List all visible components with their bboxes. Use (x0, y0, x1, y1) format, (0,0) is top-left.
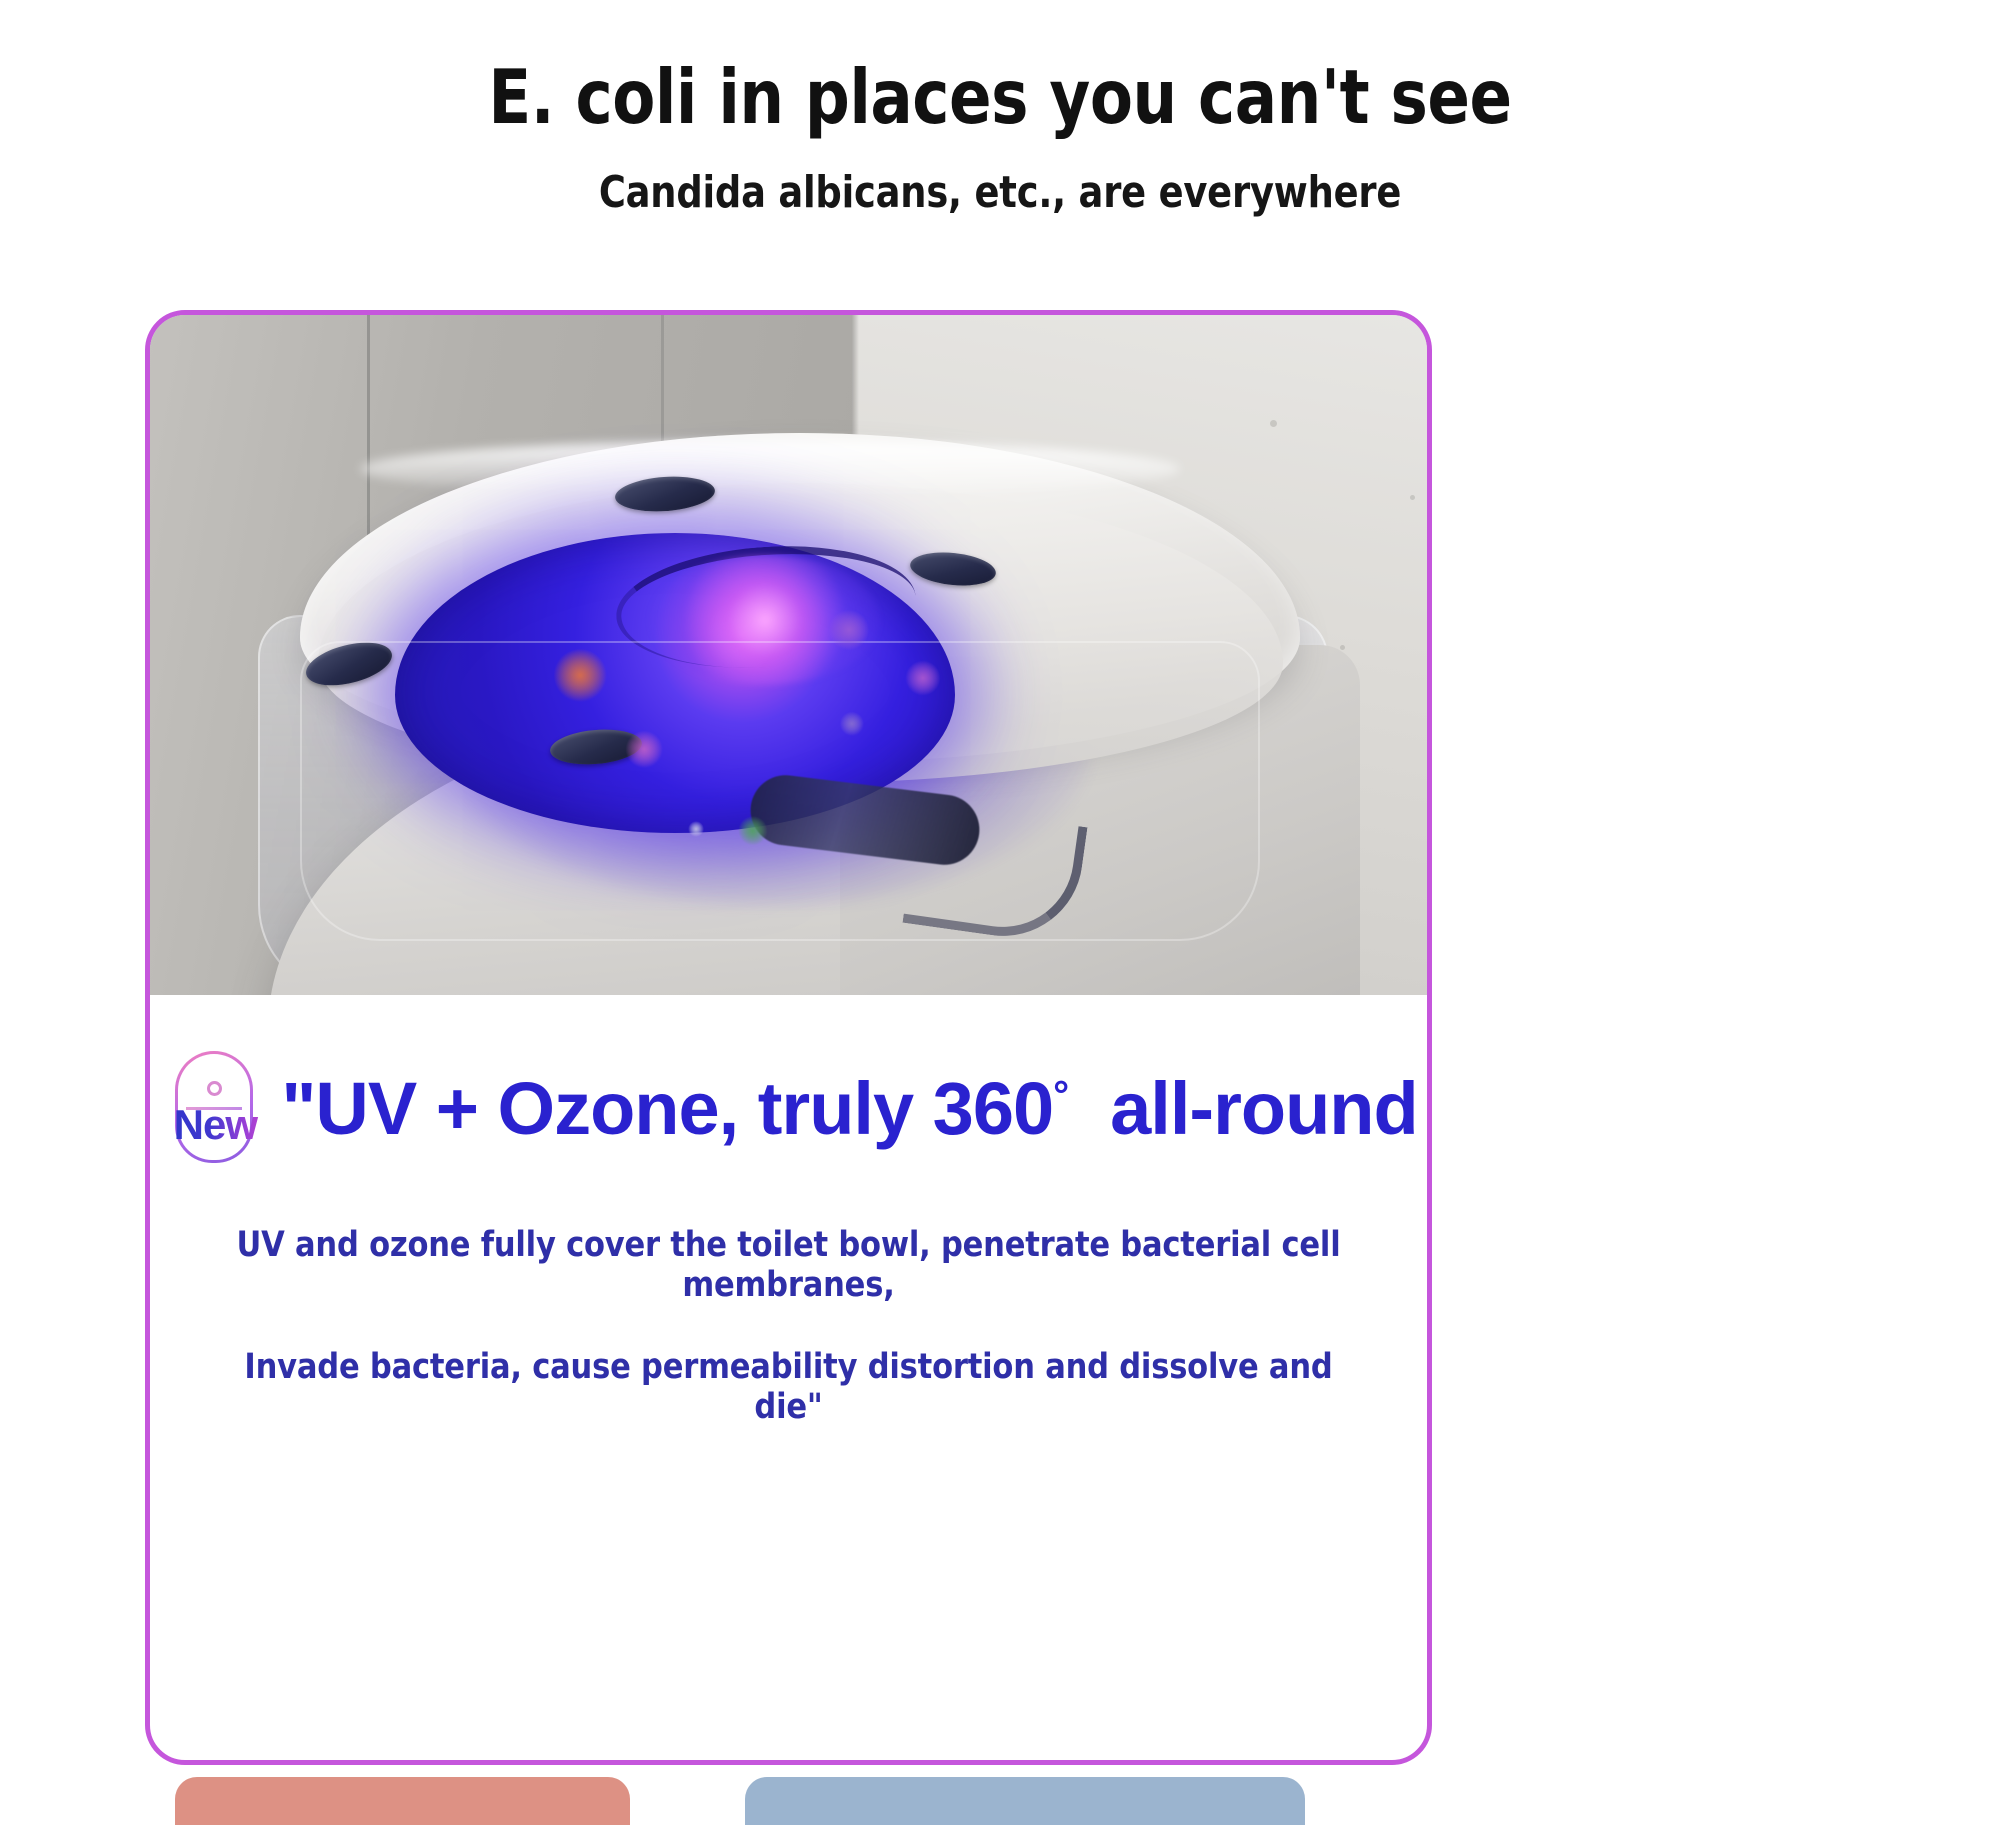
wall-speck (1270, 420, 1277, 427)
microbe-icon (560, 655, 600, 695)
microbe-icon (630, 735, 658, 763)
right-peek-card[interactable] (745, 1777, 1305, 1825)
text-panel: New "UV + Ozone, truly 360°all-round UV … (150, 995, 1427, 1427)
feature-card: New "UV + Ozone, truly 360°all-round UV … (145, 310, 1432, 1765)
microbe-icon (843, 715, 861, 733)
lid-highlight (360, 441, 1180, 497)
page-title: E. coli in places you can't see (70, 58, 1930, 137)
new-badge-label: New (159, 1101, 271, 1149)
feature-headline-part2: all-round (1110, 1067, 1418, 1150)
headline-row: New "UV + Ozone, truly 360°all-round (190, 1049, 1387, 1167)
feature-description-line-2: Invade bacteria, cause permeability dist… (208, 1347, 1369, 1427)
product-photo (150, 315, 1427, 995)
left-peek-card[interactable] (175, 1777, 630, 1825)
page-header: E. coli in places you can't see Candida … (0, 0, 2000, 218)
wall-speck (1410, 495, 1415, 500)
microbe-icon (910, 665, 936, 691)
page-subtitle: Candida albicans, etc., are everywhere (70, 167, 1930, 218)
wall-seam-secondary (661, 315, 664, 451)
feature-headline: "UV + Ozone, truly 360°all-round (281, 1066, 1417, 1151)
wall-speck (1340, 645, 1345, 650)
degree-symbol: ° (1053, 1073, 1068, 1117)
microbe-icon (742, 820, 764, 842)
microbe-icon (690, 823, 702, 835)
new-badge: New (159, 1049, 271, 1167)
feature-description-line-1: UV and ozone fully cover the toilet bowl… (208, 1225, 1369, 1305)
feature-headline-part1: "UV + Ozone, truly 360 (281, 1067, 1053, 1150)
microbe-icon (834, 615, 864, 645)
